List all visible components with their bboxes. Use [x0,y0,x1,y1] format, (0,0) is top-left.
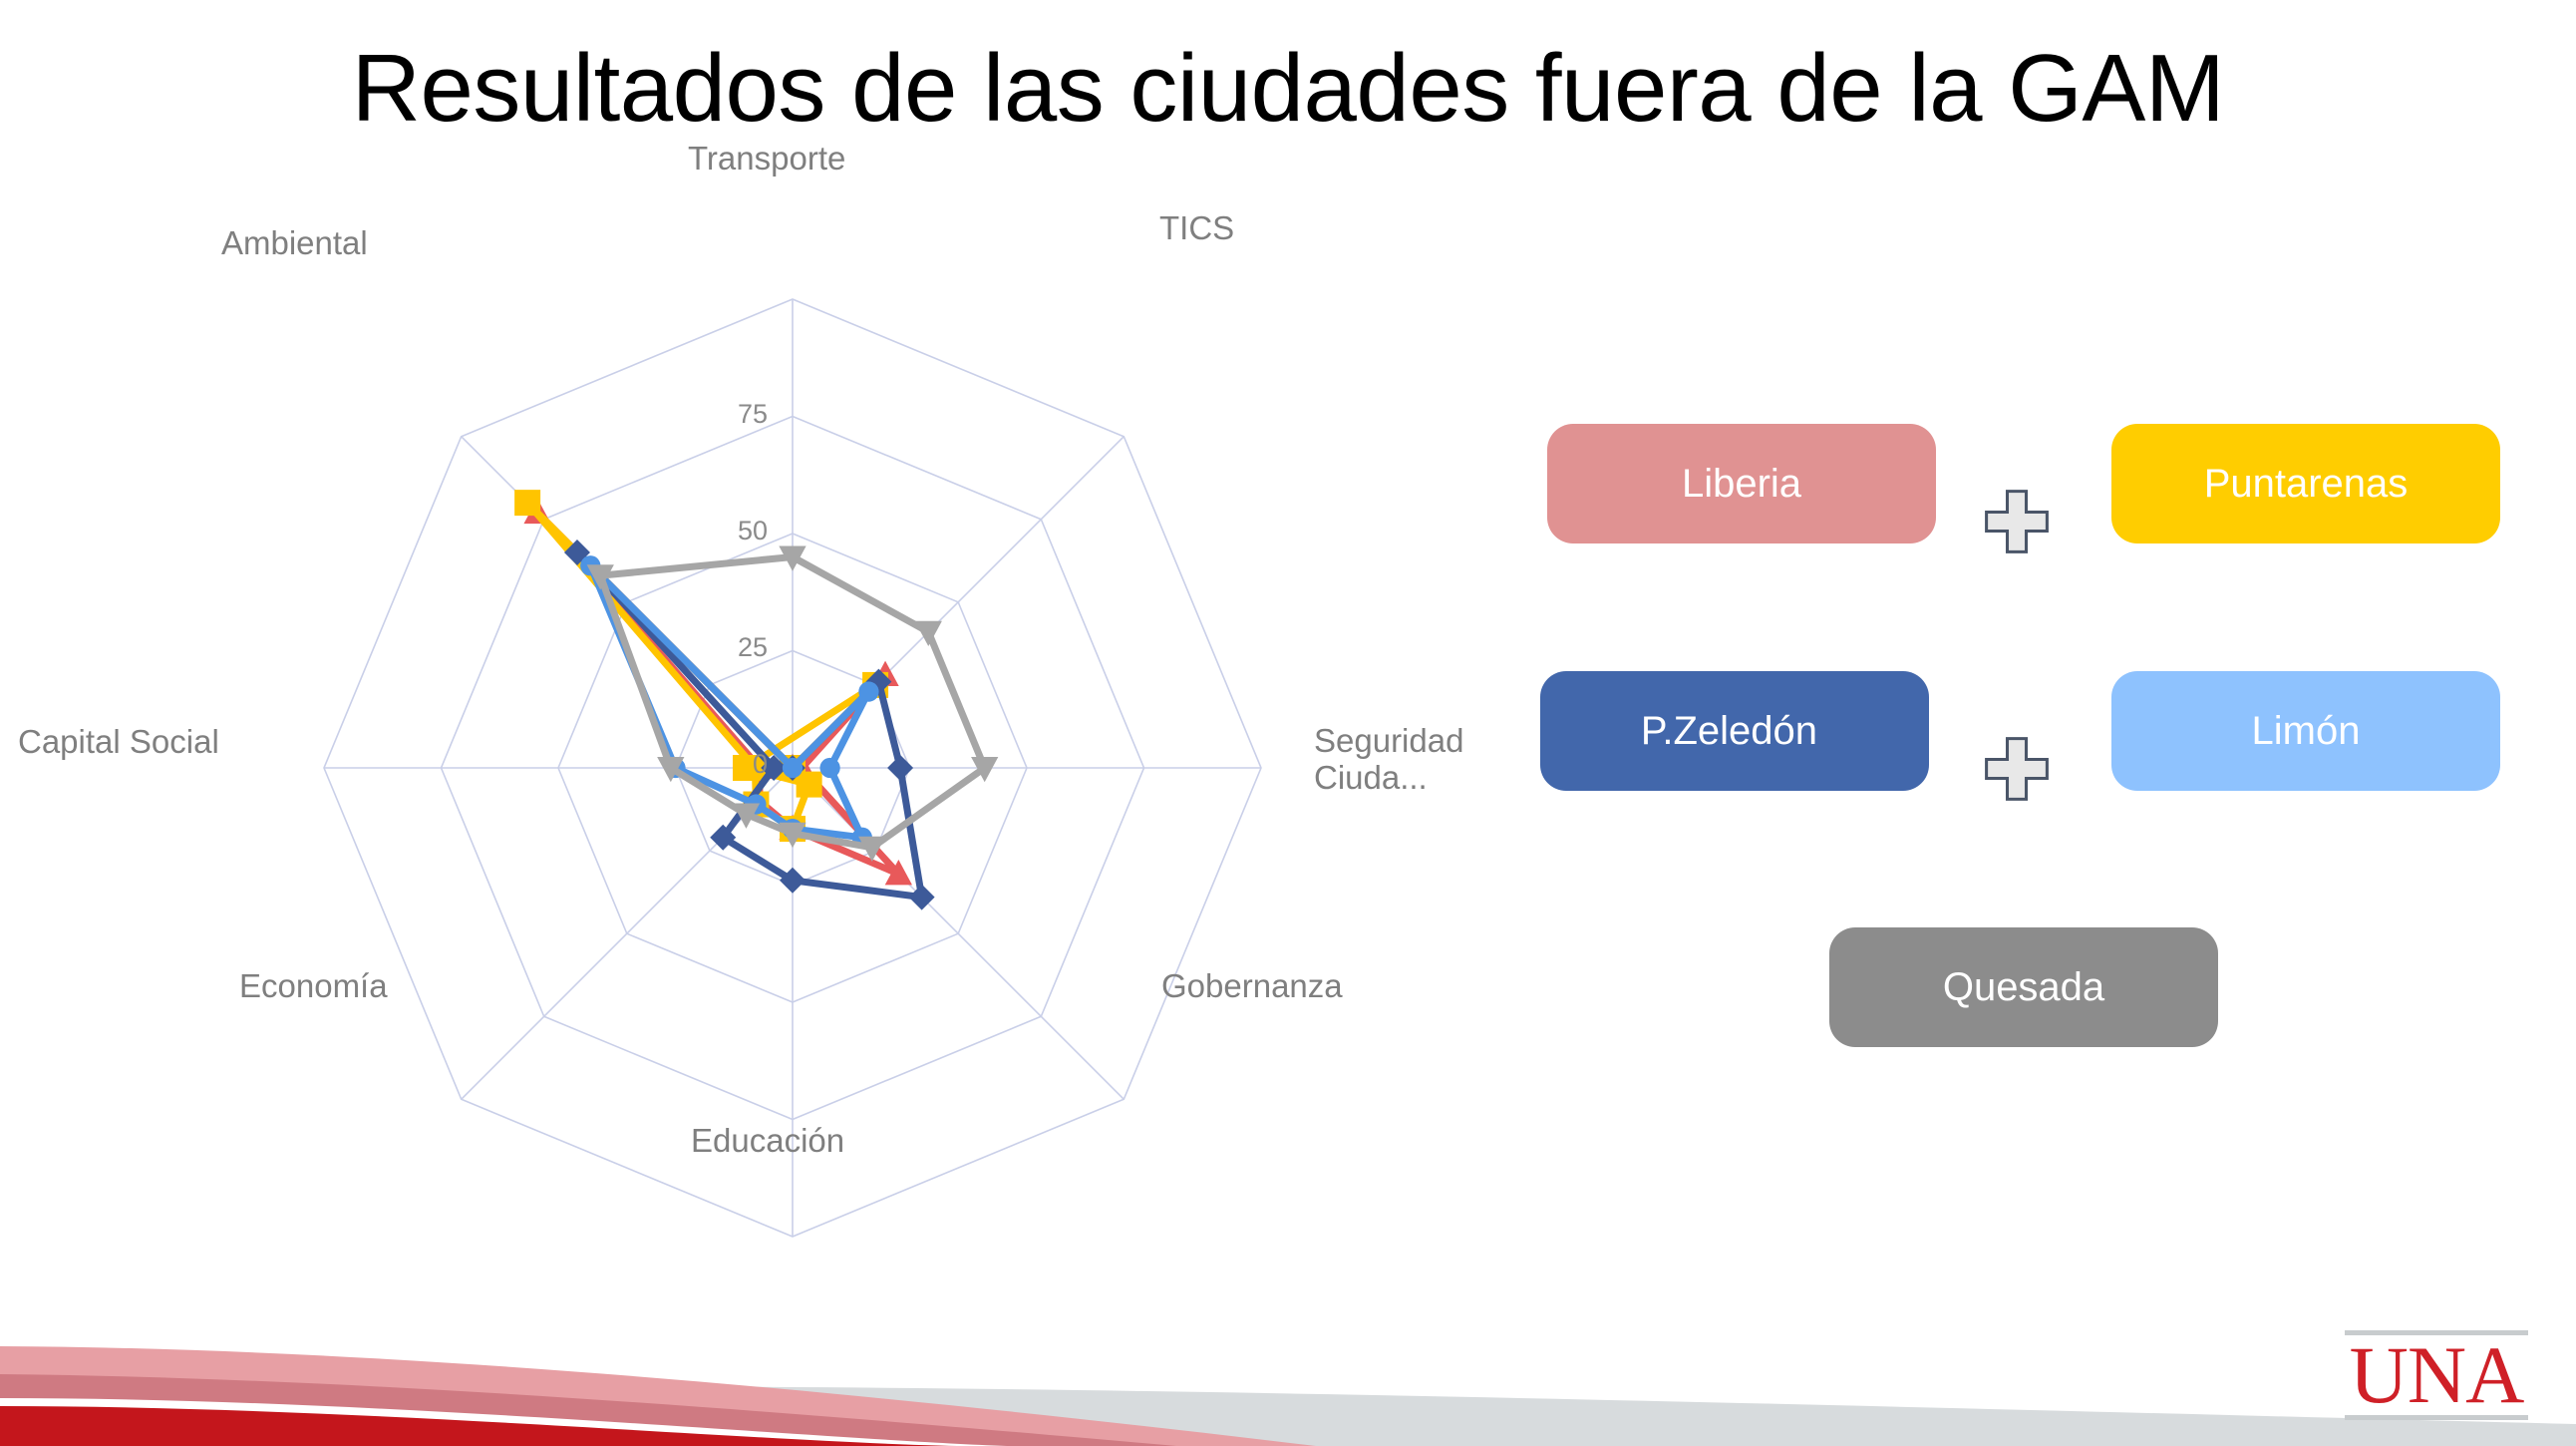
axis-label-gobernanza: Gobernanza [1161,967,1343,1006]
radar-marker [783,758,803,778]
decorative-wave [0,1247,2576,1446]
legend-card-liberia[interactable]: Liberia [1547,424,1936,543]
legend-card-limon[interactable]: Limón [2111,671,2500,791]
page-title: Resultados de las ciudades fuera de la G… [0,38,2576,140]
legend-card-pzeledon[interactable]: P.Zeledón [1540,671,1929,791]
plus-icon [1979,731,2055,807]
legend-card-puntarenas[interactable]: Puntarenas [2111,424,2500,543]
radar-marker [514,490,540,516]
radar-marker [887,755,913,781]
legend-label-puntarenas: Puntarenas [2204,462,2409,507]
legend-label-pzeledon-text: P.Zeledón [1641,709,1817,754]
radar-marker [858,681,878,701]
tick-label-25: 25 [698,632,768,663]
axis-label-tics: TICS [1159,209,1234,248]
tick-label-50: 50 [698,516,768,546]
radar-chart: Transporte TICS SeguridadCiuda... Gobern… [0,150,1555,1326]
radar-marker [819,758,839,778]
logo-rule-bottom [2345,1415,2528,1420]
axis-label-ambiental: Ambiental [221,224,368,263]
logo-text: UNA [2337,1332,2536,1417]
legend-label-quesada: Quesada [1943,965,2104,1010]
axis-label-economia: Economía [239,967,388,1006]
axis-label-capital-social: Capital Social [18,723,219,762]
tick-label-75: 75 [698,399,768,430]
slide-canvas: Resultados de las ciudades fuera de la G… [0,0,2576,1446]
axis-label-transporte: Transporte [688,140,845,179]
legend-label-limon: Limón [2252,709,2361,754]
radar-spoke [793,768,1124,1099]
legend-label-liberia: Liberia [1682,462,1801,507]
plus-icon [1979,484,2055,559]
radar-marker [797,772,822,798]
legend-label-pzeledon: P.Zeledón [1641,709,1828,754]
axis-label-educacion: Educación [691,1122,844,1161]
una-logo: UNA [2337,1322,2536,1430]
tick-label-0: 0 [698,749,768,780]
axis-label-seguridad: SeguridadCiuda... [1314,723,1523,797]
legend-card-quesada[interactable]: Quesada [1829,927,2218,1047]
